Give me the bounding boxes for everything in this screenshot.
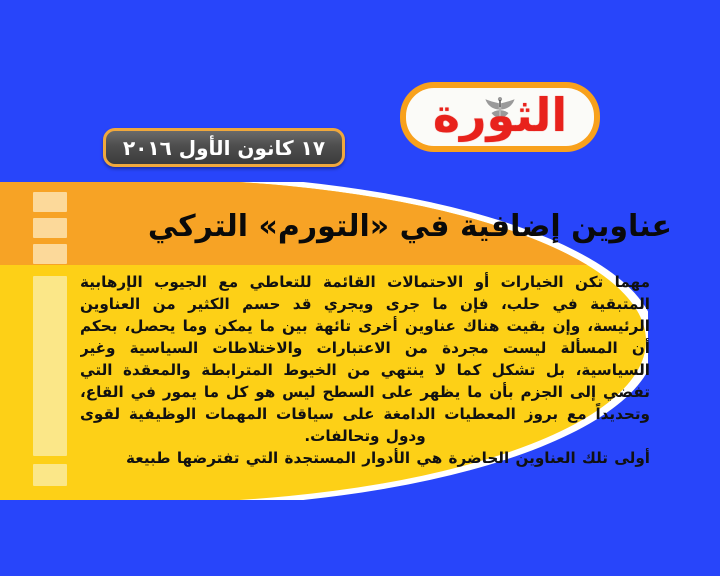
article-paragraph: أولى تلك العناوين الحاضرة هي الأدوار الم… <box>80 447 650 469</box>
side-strip-1 <box>33 192 67 212</box>
masthead-title: الثورة <box>433 92 567 138</box>
date-text: ١٧ كانون الأول ٢٠١٦ <box>123 138 325 158</box>
headline: عناوين إضافية في «التورم» التركي <box>90 196 672 258</box>
article-body: مهما تكن الخيارات أو الاحتمالات القائمة … <box>80 271 650 501</box>
slide-canvas: الثورة ١٧ كانون الأول ٢٠١٦ عناوين إضافية… <box>0 0 720 576</box>
date-badge: ١٧ كانون الأول ٢٠١٦ <box>103 128 345 167</box>
side-strip-2 <box>33 218 67 238</box>
side-strip-long <box>33 276 67 456</box>
masthead-logo: الثورة <box>400 82 600 152</box>
headline-text: عناوين إضافية في «التورم» التركي <box>148 210 672 245</box>
masthead-plate: الثورة <box>406 88 594 146</box>
side-strip-4 <box>33 464 67 486</box>
article-paragraph: مهما تكن الخيارات أو الاحتمالات القائمة … <box>80 271 650 447</box>
side-strip-3 <box>33 244 67 264</box>
bottom-background <box>0 500 720 576</box>
